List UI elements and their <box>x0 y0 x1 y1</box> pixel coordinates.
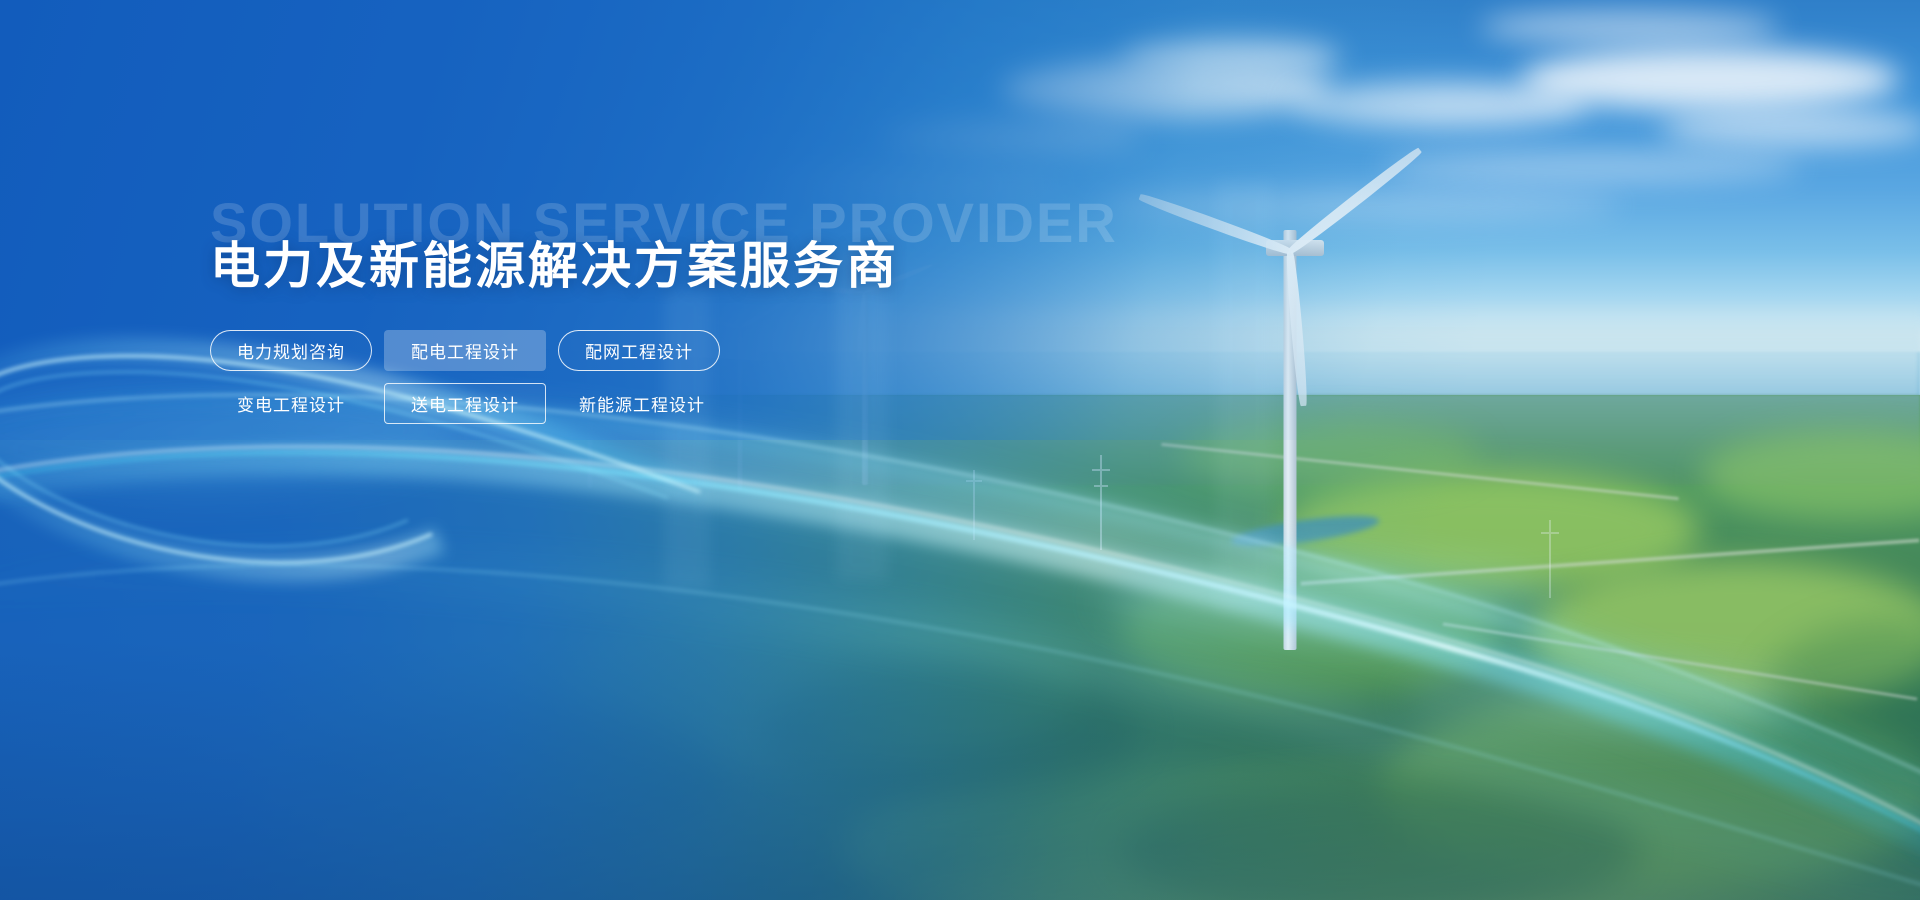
tag-power-planning-consulting[interactable]: 电力规划咨询 <box>210 330 372 371</box>
tag-distribution-network-engineering-design[interactable]: 配网工程设计 <box>558 330 720 371</box>
tag-substation-engineering-design[interactable]: 变电工程设计 <box>210 383 372 424</box>
service-tag-row-1: 电力规划咨询 配电工程设计 配网工程设计 <box>210 330 1110 371</box>
tag-distribution-engineering-design[interactable]: 配电工程设计 <box>384 330 546 371</box>
banner-content: SOLUTION SERVICE PROVIDER 电力及新能源解决方案服务商 … <box>210 195 1110 436</box>
light-streaks <box>0 0 1920 900</box>
tag-new-energy-engineering-design[interactable]: 新能源工程设计 <box>558 383 726 424</box>
service-tag-list: 电力规划咨询 配电工程设计 配网工程设计 变电工程设计 送电工程设计 新能源工程… <box>210 330 1110 424</box>
hero-banner: SOLUTION SERVICE PROVIDER 电力及新能源解决方案服务商 … <box>0 0 1920 900</box>
page-title: 电力及新能源解决方案服务商 <box>210 237 1110 296</box>
tag-transmission-engineering-design[interactable]: 送电工程设计 <box>384 383 546 424</box>
service-tag-row-2: 变电工程设计 送电工程设计 新能源工程设计 <box>210 383 1110 424</box>
